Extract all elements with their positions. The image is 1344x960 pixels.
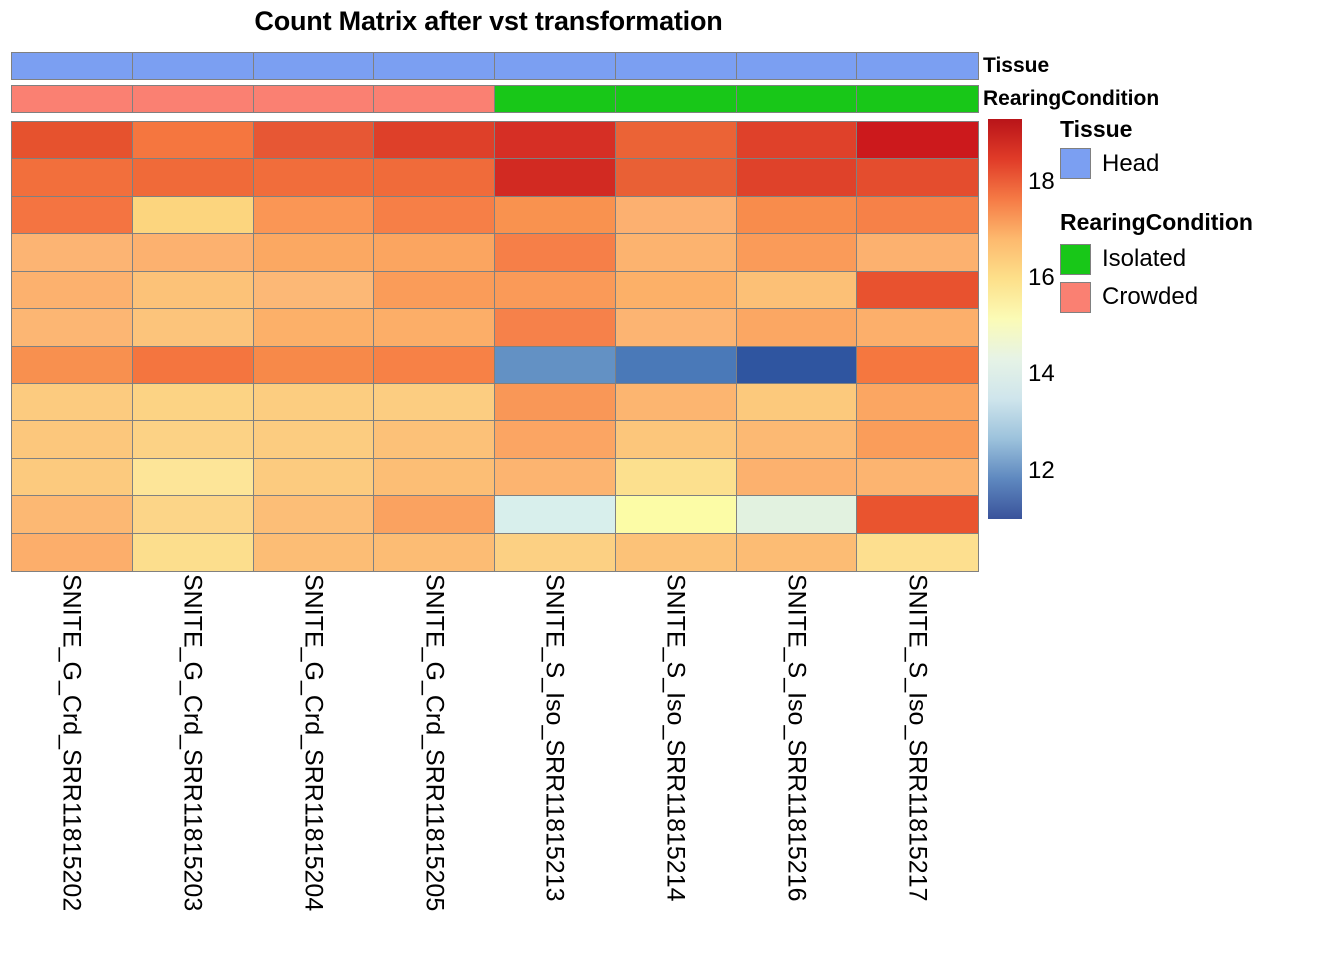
heatmap-grid	[11, 121, 977, 570]
annotation-cell	[373, 85, 495, 113]
heatmap-cell	[253, 308, 375, 347]
heatmap-cell	[253, 533, 375, 572]
column-label-slot: SNITE_G_Crd_SRR11815203	[132, 570, 253, 960]
heatmap-cell	[615, 420, 737, 459]
heatmap-cell	[11, 196, 133, 235]
legend-label: Isolated	[1102, 247, 1186, 271]
colorbar-tick-label: 18	[1028, 170, 1055, 194]
heatmap-cell	[11, 346, 133, 385]
legend-rearing-condition: RearingCondition IsolatedCrowded	[1060, 209, 1253, 316]
heatmap-cell	[736, 308, 858, 347]
heatmap-cell	[132, 233, 254, 272]
annotation-cell	[615, 52, 737, 80]
column-label: SNITE_S_Iso_SRR11815217	[904, 574, 929, 902]
heatmap-cell	[253, 346, 375, 385]
heatmap-figure: Count Matrix after vst transformation Ti…	[0, 0, 1344, 960]
heatmap-cell	[11, 458, 133, 497]
annotation-cell	[494, 52, 616, 80]
heatmap-cell	[856, 383, 978, 422]
legend-label: Head	[1102, 152, 1159, 176]
heatmap-cell	[373, 420, 495, 459]
legend-swatch	[1060, 148, 1091, 179]
page-title: Count Matrix after vst transformation	[0, 1, 977, 41]
annotation-label-rearing-condition: RearingCondition	[983, 85, 1159, 113]
heatmap-cell	[373, 121, 495, 160]
legend-title-rearing-condition: RearingCondition	[1060, 209, 1253, 236]
column-label-slot: SNITE_S_Iso_SRR11815213	[494, 570, 615, 960]
heatmap-cell	[856, 346, 978, 385]
column-label-slot: SNITE_G_Crd_SRR11815205	[373, 570, 494, 960]
heatmap-cell	[11, 271, 133, 310]
heatmap-cell	[132, 495, 254, 534]
heatmap-cell	[373, 271, 495, 310]
heatmap-cell	[736, 196, 858, 235]
heatmap-cell	[736, 383, 858, 422]
column-label: SNITE_S_Iso_SRR11815213	[542, 574, 567, 902]
heatmap-cell	[132, 196, 254, 235]
column-label: SNITE_G_Crd_SRR11815203	[180, 574, 205, 911]
heatmap-cell	[615, 196, 737, 235]
annotation-cell	[856, 52, 978, 80]
heatmap-cell	[494, 346, 616, 385]
heatmap-cell	[615, 121, 737, 160]
heatmap-cell	[615, 308, 737, 347]
annotation-cell	[11, 85, 133, 113]
legend-title-tissue: Tissue	[1060, 116, 1159, 143]
legend-swatch	[1060, 244, 1091, 275]
heatmap-cell	[736, 271, 858, 310]
column-label-slot: SNITE_S_Iso_SRR11815216	[736, 570, 857, 960]
annotation-label-tissue: Tissue	[983, 52, 1049, 80]
heatmap-cell	[856, 458, 978, 497]
annotation-cell	[494, 85, 616, 113]
heatmap-cell	[615, 495, 737, 534]
heatmap-cell	[373, 196, 495, 235]
heatmap-cell	[736, 233, 858, 272]
annotation-cell	[132, 52, 254, 80]
annotation-cell	[253, 85, 375, 113]
heatmap-cell	[11, 121, 133, 160]
column-label-slot: SNITE_G_Crd_SRR11815204	[253, 570, 374, 960]
annotation-cell	[11, 52, 133, 80]
heatmap-cell	[253, 121, 375, 160]
heatmap-cell	[373, 495, 495, 534]
heatmap-cell	[494, 533, 616, 572]
heatmap-cell	[253, 458, 375, 497]
heatmap-cell	[494, 308, 616, 347]
legend-swatch	[1060, 282, 1091, 313]
heatmap-cell	[373, 233, 495, 272]
heatmap-cell	[11, 308, 133, 347]
column-label: SNITE_G_Crd_SRR11815204	[300, 574, 325, 911]
heatmap-cell	[856, 196, 978, 235]
heatmap-cell	[373, 458, 495, 497]
heatmap-cell	[494, 495, 616, 534]
heatmap-cell	[373, 383, 495, 422]
legend-label: Crowded	[1102, 285, 1198, 309]
heatmap-cell	[494, 233, 616, 272]
heatmap-cell	[132, 346, 254, 385]
heatmap-cell	[494, 158, 616, 197]
heatmap-cell	[615, 271, 737, 310]
heatmap-cell	[373, 346, 495, 385]
heatmap-cell	[615, 233, 737, 272]
heatmap-cell	[736, 458, 858, 497]
column-label: SNITE_G_Crd_SRR11815205	[421, 574, 446, 911]
colorbar-gradient	[988, 119, 1022, 519]
heatmap-cell	[615, 458, 737, 497]
heatmap-cell	[253, 383, 375, 422]
column-label-axis: SNITE_G_Crd_SRR11815202SNITE_G_Crd_SRR11…	[11, 570, 977, 960]
heatmap-cell	[856, 271, 978, 310]
annotation-bar-tissue	[11, 52, 977, 80]
heatmap-cell	[132, 383, 254, 422]
column-label: SNITE_S_Iso_SRR11815216	[783, 574, 808, 902]
colorbar-tick-label: 16	[1028, 266, 1055, 290]
heatmap-cell	[494, 271, 616, 310]
column-label-slot: SNITE_G_Crd_SRR11815202	[11, 570, 132, 960]
heatmap-cell	[132, 308, 254, 347]
heatmap-cell	[615, 346, 737, 385]
heatmap-cell	[615, 158, 737, 197]
heatmap-cell	[494, 458, 616, 497]
heatmap-cell	[856, 495, 978, 534]
heatmap-cell	[253, 420, 375, 459]
heatmap-cell	[132, 271, 254, 310]
legend-items-rearing-condition: IsolatedCrowded	[1060, 240, 1253, 316]
colorbar-tick-label: 12	[1028, 459, 1055, 483]
heatmap-cell	[856, 158, 978, 197]
heatmap-cell	[11, 533, 133, 572]
annotation-cell	[736, 85, 858, 113]
heatmap-cell	[373, 308, 495, 347]
heatmap-cell	[373, 533, 495, 572]
heatmap-cell	[736, 121, 858, 160]
heatmap-cell	[11, 495, 133, 534]
annotation-cell	[615, 85, 737, 113]
heatmap-cell	[132, 533, 254, 572]
heatmap-cell	[736, 495, 858, 534]
heatmap-cell	[253, 158, 375, 197]
heatmap-cell	[253, 495, 375, 534]
heatmap-cell	[736, 158, 858, 197]
heatmap-cell	[11, 420, 133, 459]
heatmap-cell	[11, 383, 133, 422]
heatmap-cell	[494, 383, 616, 422]
colorbar-tick-label: 14	[1028, 362, 1055, 386]
heatmap-cell	[494, 420, 616, 459]
annotation-bar-rearing-condition	[11, 85, 977, 113]
heatmap-cell	[615, 383, 737, 422]
column-label: SNITE_G_Crd_SRR11815202	[59, 574, 84, 911]
heatmap-cell	[615, 533, 737, 572]
heatmap-cell	[736, 533, 858, 572]
heatmap-cell	[253, 271, 375, 310]
legend-row: Crowded	[1060, 278, 1253, 316]
heatmap-cell	[736, 346, 858, 385]
heatmap-cell	[132, 158, 254, 197]
heatmap-cell	[856, 233, 978, 272]
heatmap-cell	[132, 420, 254, 459]
heatmap-cell	[856, 533, 978, 572]
heatmap-cell	[132, 458, 254, 497]
heatmap-cell	[856, 420, 978, 459]
annotation-cell	[132, 85, 254, 113]
heatmap-cell	[11, 158, 133, 197]
annotation-cell	[373, 52, 495, 80]
legend-items-tissue: Head	[1060, 147, 1159, 180]
column-label-slot: SNITE_S_Iso_SRR11815217	[856, 570, 977, 960]
column-label-slot: SNITE_S_Iso_SRR11815214	[615, 570, 736, 960]
heatmap-cell	[856, 121, 978, 160]
heatmap-cell	[856, 308, 978, 347]
heatmap-cell	[132, 121, 254, 160]
annotation-cell	[856, 85, 978, 113]
heatmap-cell	[494, 196, 616, 235]
heatmap-cell	[736, 420, 858, 459]
legend-tissue: Tissue Head	[1060, 116, 1159, 180]
column-label: SNITE_S_Iso_SRR11815214	[663, 574, 688, 902]
heatmap-cell	[11, 233, 133, 272]
vst-value-colorbar: 18161412	[988, 119, 1022, 519]
heatmap-cell	[253, 196, 375, 235]
legend-row: Head	[1060, 147, 1159, 180]
heatmap-cell	[373, 158, 495, 197]
annotation-cell	[253, 52, 375, 80]
heatmap-cell	[494, 121, 616, 160]
heatmap-cell	[253, 233, 375, 272]
legend-row: Isolated	[1060, 240, 1253, 278]
annotation-cell	[736, 52, 858, 80]
